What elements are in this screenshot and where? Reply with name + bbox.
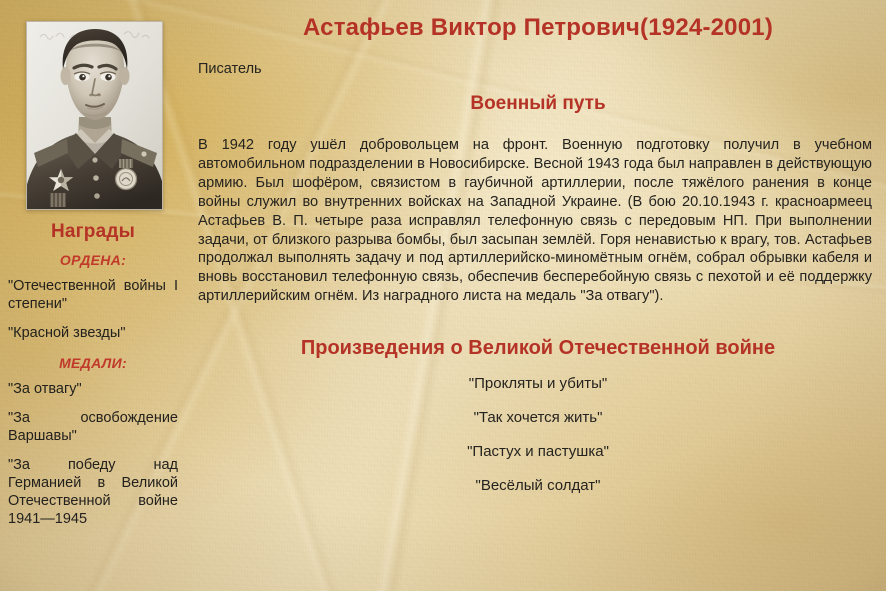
- award-medal-item: "За победу над Германией в Великой Отече…: [8, 456, 178, 528]
- awards-panel: Награды ОРДЕНА: "Отечественной войны I с…: [0, 222, 186, 539]
- awards-title: Награды: [0, 222, 186, 242]
- content-panel: Астафьев Виктор Петрович(1924-2001) Писа…: [190, 0, 886, 591]
- work-list-item: "Так хочется жить": [190, 409, 886, 427]
- medals-heading: МЕДАЛИ:: [0, 355, 186, 371]
- work-list-item: "Пастух и пастушка": [190, 443, 886, 461]
- portrait-photo: [26, 21, 163, 210]
- section-heading-works: Произведения о Великой Отечественной вой…: [190, 336, 886, 360]
- award-order-item: "Красной звезды": [8, 324, 178, 342]
- war-path-paragraph: В 1942 году ушёл добровольцем на фронт. …: [198, 136, 872, 306]
- award-medal-item: "За отвагу": [8, 380, 178, 398]
- section-heading-war-path: Военный путь: [190, 93, 886, 115]
- orders-heading: ОРДЕНА:: [0, 252, 186, 268]
- works-list: "Прокляты и убиты" "Так хочется жить" "П…: [190, 375, 886, 511]
- role-label: Писатель: [198, 61, 262, 78]
- work-list-item: "Весёлый солдат": [190, 477, 886, 495]
- portrait-illustration: [26, 21, 163, 210]
- award-medal-item: "За освобождение Варшавы": [8, 409, 178, 445]
- work-list-item: "Прокляты и убиты": [190, 375, 886, 393]
- page-title: Астафьев Виктор Петрович(1924-2001): [190, 14, 886, 42]
- award-order-item: "Отечественной войны I степени": [8, 277, 178, 313]
- slide-canvas: Награды ОРДЕНА: "Отечественной войны I с…: [0, 0, 886, 591]
